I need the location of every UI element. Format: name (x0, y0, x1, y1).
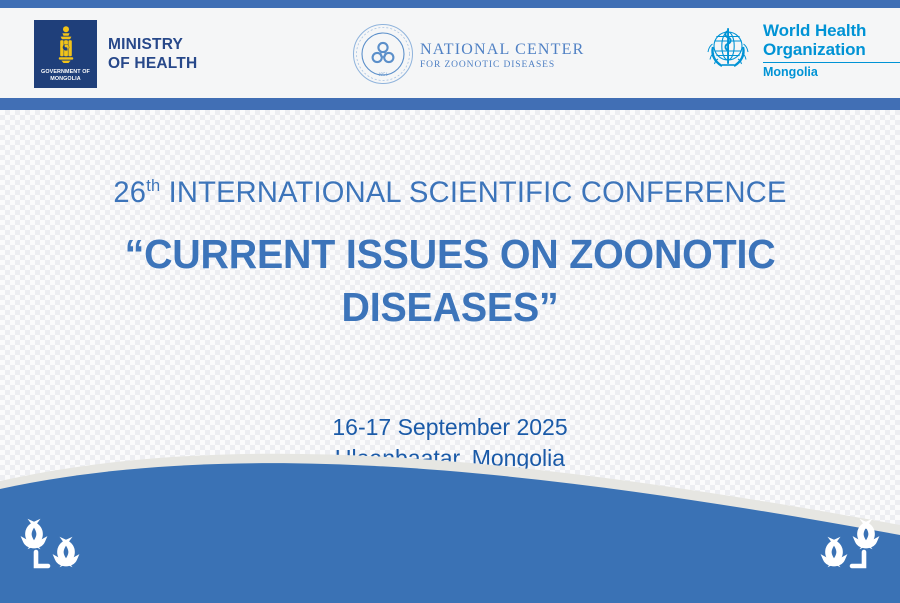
conference-ordinal-suffix: th (146, 176, 160, 195)
event-dates: 16-17 September 2025 (0, 412, 900, 443)
crest-caption-line2: MONGOLIA (34, 76, 97, 83)
nczd-name-line2: FOR ZOONOTIC DISEASES (420, 59, 585, 72)
soyombo-emblem (34, 25, 97, 67)
conference-ordinal: 26 (113, 176, 146, 209)
page-title-line2: DISEASES” (76, 281, 825, 334)
mongolia-government-crest: GOVERNMENT OF MONGOLIA (34, 20, 97, 88)
top-accent-band (0, 0, 900, 8)
who-name-line2: Organization (763, 41, 900, 60)
mongolian-knot-ornament-left (14, 514, 90, 581)
biohazard-seal: 1951 (352, 23, 414, 90)
national-center-zoonotic-diseases-logo: 1951 NATIONAL CENTER FOR ZOONOTIC DISEAS… (352, 23, 585, 90)
who-logo: World Health Organization Mongolia (700, 20, 900, 81)
crest-caption: GOVERNMENT OF MONGOLIA (34, 69, 97, 83)
nczd-name: NATIONAL CENTER FOR ZOONOTIC DISEASES (420, 41, 585, 72)
header-separator-band (0, 98, 900, 110)
who-country-label: Mongolia (763, 65, 900, 79)
nczd-name-line1: NATIONAL CENTER (420, 41, 585, 59)
ministry-of-health-logo: GOVERNMENT OF MONGOLIA MINISTRY OF HEALT… (34, 20, 197, 88)
page-title: “CURRENT ISSUES ON ZOONOTIC DISEASES” (76, 228, 825, 334)
conference-line-text: INTERNATIONAL SCIENTIFIC CONFERENCE (160, 176, 786, 209)
who-name-block: World Health Organization Mongolia (763, 22, 900, 79)
who-name-line1: World Health (763, 22, 900, 41)
ministry-of-health-name: MINISTRY OF HEALTH (108, 35, 197, 73)
page-title-line1: “CURRENT ISSUES ON ZOONOTIC (76, 228, 825, 281)
seal-year: 1951 (378, 73, 389, 78)
ministry-name-line2: OF HEALTH (108, 54, 197, 73)
conference-title-slide: GOVERNMENT OF MONGOLIA MINISTRY OF HEALT… (0, 0, 900, 603)
mongolian-knot-ornament-right (810, 514, 886, 581)
conference-ordinal-line: 26th INTERNATIONAL SCIENTIFIC CONFERENCE (14, 176, 887, 210)
crest-caption-line1: GOVERNMENT OF (34, 69, 97, 76)
ministry-name-line1: MINISTRY (108, 35, 197, 54)
who-divider-rule (763, 62, 900, 64)
bottom-wave-band (0, 443, 900, 603)
who-emblem (700, 20, 756, 81)
